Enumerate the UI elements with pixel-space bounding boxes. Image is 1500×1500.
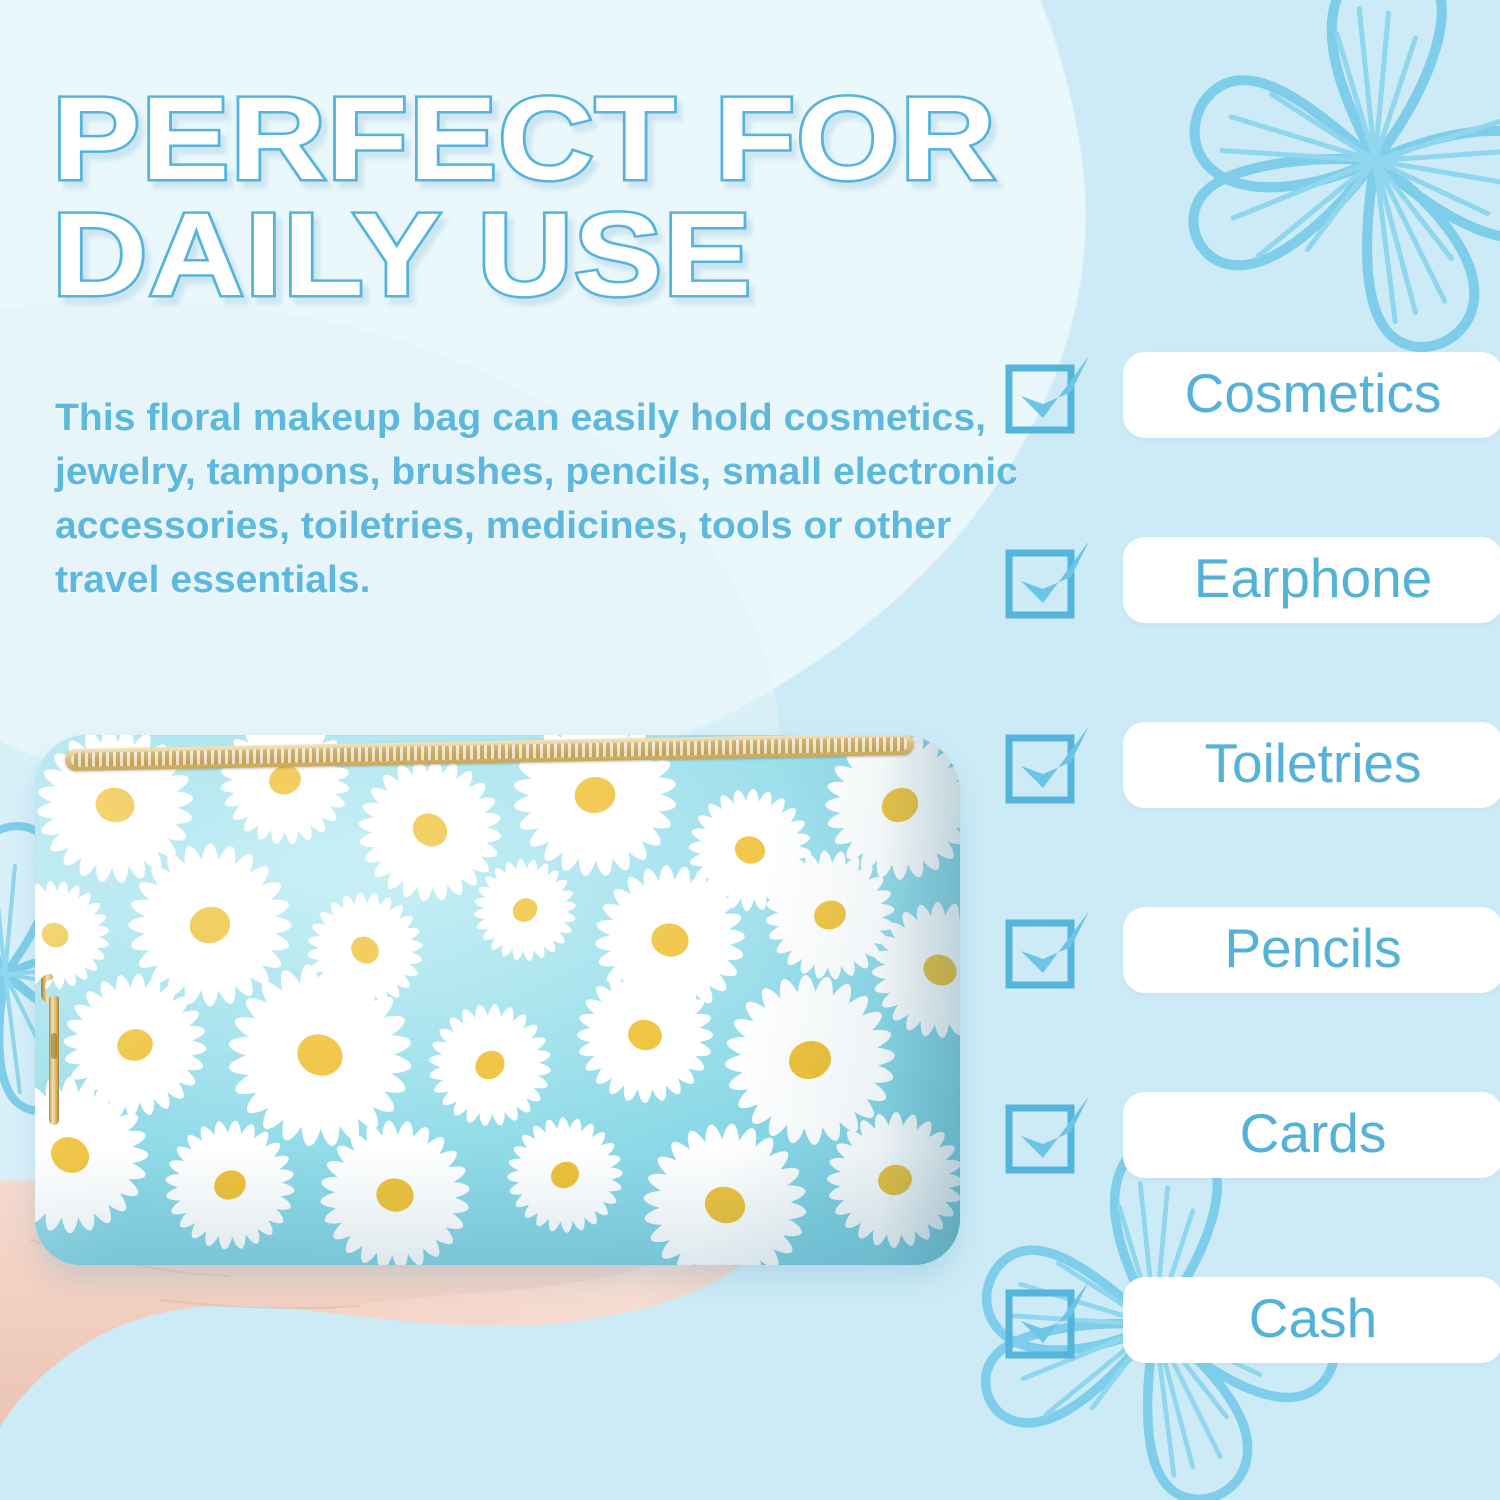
checklist-pill[interactable]: Earphone	[1123, 537, 1500, 623]
page-title: PERFECT FOR DAILY USE	[52, 82, 1172, 313]
checklist-label: Cards	[1240, 1106, 1387, 1165]
page-title-line-1: PERFECT FOR	[52, 73, 997, 205]
checklist-label: Toiletries	[1204, 736, 1421, 795]
infographic-canvas: PERFECT FOR DAILY USE This floral makeup…	[0, 0, 1500, 1500]
checklist-label: Cash	[1249, 1291, 1377, 1350]
checked-checkbox-icon[interactable]	[1003, 1273, 1095, 1365]
product-photo	[0, 700, 1010, 1500]
checklist-item-cash[interactable]: Cash	[1003, 1273, 1500, 1365]
checked-checkbox-icon[interactable]	[1003, 903, 1095, 995]
checklist-item-toiletries[interactable]: Toiletries	[1003, 718, 1500, 810]
product-description: This floral makeup bag can easily hold c…	[55, 392, 1028, 608]
feature-checklist: Cosmetics Earphone Toiletr	[1003, 348, 1500, 1365]
makeup-bag	[35, 735, 960, 1265]
checklist-item-pencils[interactable]: Pencils	[1003, 903, 1500, 995]
checklist-pill[interactable]: Cash	[1123, 1277, 1500, 1363]
checklist-label: Earphone	[1194, 551, 1433, 610]
checklist-pill[interactable]: Cards	[1123, 1092, 1500, 1178]
checked-checkbox-icon[interactable]	[1003, 718, 1095, 810]
checklist-item-cards[interactable]: Cards	[1003, 1088, 1500, 1180]
zipper-pull-icon	[41, 971, 67, 1141]
daisy-pattern-fabric	[35, 735, 960, 1265]
checklist-item-earphone[interactable]: Earphone	[1003, 533, 1500, 625]
checked-checkbox-icon[interactable]	[1003, 348, 1095, 440]
checked-checkbox-icon[interactable]	[1003, 1088, 1095, 1180]
checklist-item-cosmetics[interactable]: Cosmetics	[1003, 348, 1500, 440]
checklist-pill[interactable]: Toiletries	[1123, 722, 1500, 808]
checklist-label: Pencils	[1224, 921, 1401, 980]
page-title-line-2: DAILY USE	[52, 198, 1172, 314]
checklist-pill[interactable]: Cosmetics	[1123, 352, 1500, 438]
checked-checkbox-icon[interactable]	[1003, 533, 1095, 625]
checklist-pill[interactable]: Pencils	[1123, 907, 1500, 993]
checklist-label: Cosmetics	[1185, 366, 1442, 425]
